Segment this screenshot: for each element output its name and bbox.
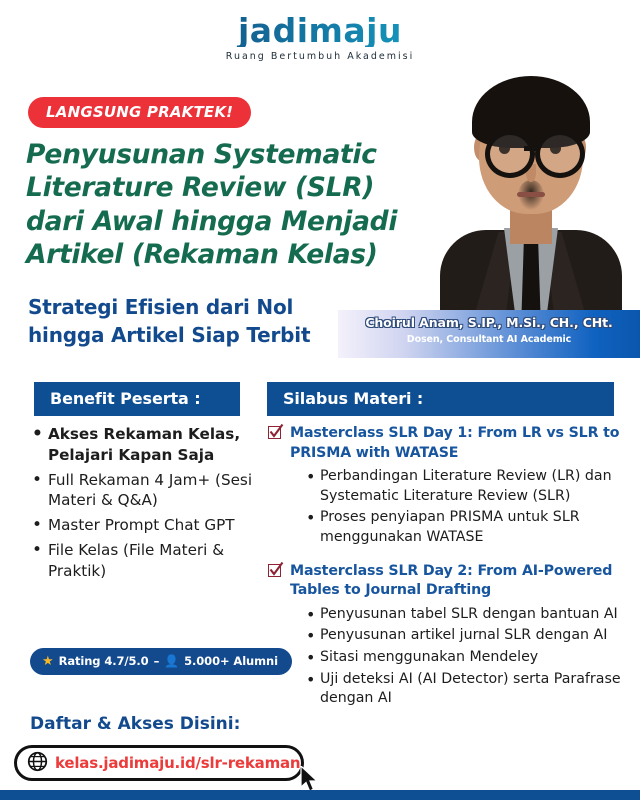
page-subtitle: Strategi Efisien dari Nol hingga Artikel… <box>28 293 358 350</box>
silabus-list: Masterclass SLR Day 1: From LR vs SLR to… <box>268 424 636 723</box>
alumni-count: 5.000+ Alumni <box>184 654 278 668</box>
logo-tagline: Ruang Bertumbuh Akademisi <box>0 51 640 62</box>
silabus-module: Masterclass SLR Day 1: From LR vs SLR to… <box>268 424 636 548</box>
rating-text: Rating 4.7/5.0 <box>59 654 149 668</box>
status-badge: LANGSUNG PRAKTEK! <box>28 97 251 128</box>
silabus-module-title: Masterclass SLR Day 1: From LR vs SLR to… <box>268 424 636 463</box>
benefit-list: Akses Rekaman Kelas, Pelajari Kapan Saja… <box>30 424 258 586</box>
list-item: Proses penyiapan PRISMA untuk SLR menggu… <box>306 508 636 547</box>
eyeglasses-bridge <box>524 146 536 151</box>
silabus-module: Masterclass SLR Day 2: From AI-Powered T… <box>268 562 636 709</box>
star-icon: ★ <box>42 655 54 668</box>
speaker-role: Dosen, Consultant AI Academic <box>338 334 640 345</box>
url-button[interactable]: kelas.jadimaju.id/slr-rekaman <box>14 745 304 781</box>
rating-separator: – <box>154 654 160 668</box>
list-item: Akses Rekaman Kelas, Pelajari Kapan Saja <box>30 424 258 466</box>
list-item: Penyusunan artikel jurnal SLR dengan AI <box>306 626 636 646</box>
silabus-module-title-text: Masterclass SLR Day 1: From LR vs SLR to… <box>290 425 619 461</box>
silabus-module-title: Masterclass SLR Day 2: From AI-Powered T… <box>268 562 636 601</box>
speaker-nameplate: Choirul Anam, S.IP., M.Si., CH., CHt. Do… <box>338 310 640 358</box>
footer-bar <box>0 790 640 800</box>
list-item: Penyusunan tabel SLR dengan bantuan AI <box>306 605 636 625</box>
speaker-portrait <box>432 72 628 327</box>
benefit-section-header: Benefit Peserta : <box>34 382 240 416</box>
speaker-name: Choirul Anam, S.IP., M.Si., CH., CHt. <box>338 315 640 330</box>
silabus-points: Perbandingan Literature Review (LR) dan … <box>268 467 636 547</box>
list-item: Master Prompt Chat GPT <box>30 515 258 536</box>
checkbox-checked-icon <box>268 426 281 439</box>
eyeglasses-icon <box>485 130 535 178</box>
rating-badge: ★ Rating 4.7/5.0 – 👤 5.000+ Alumni <box>30 648 292 675</box>
cta-label: Daftar & Akses Disini: <box>30 714 240 734</box>
list-item: Uji deteksi AI (AI Detector) serta Paraf… <box>306 670 636 709</box>
logo-wordmark: jadimaju <box>0 14 640 47</box>
cursor-arrow-icon <box>300 766 320 793</box>
silabus-module-title-text: Masterclass SLR Day 2: From AI-Powered T… <box>290 563 612 599</box>
eyeglasses-icon <box>535 130 585 178</box>
url-text: kelas.jadimaju.id/slr-rekaman <box>55 754 300 772</box>
checkbox-checked-icon <box>268 564 281 577</box>
brand-logo: jadimaju Ruang Bertumbuh Akademisi <box>0 14 640 62</box>
portrait-mouth <box>517 192 545 197</box>
list-item: Sitasi menggunakan Mendeley <box>306 648 636 668</box>
list-item: Perbandingan Literature Review (LR) dan … <box>306 467 636 506</box>
list-item: Full Rekaman 4 Jam+ (Sesi Materi & Q&A) <box>30 470 258 512</box>
list-item: File Kelas (File Materi & Praktik) <box>30 540 258 582</box>
silabus-section-header: Silabus Materi : <box>267 382 614 416</box>
page-title: Penyusunan Systematic Literature Review … <box>26 138 426 272</box>
globe-icon <box>27 751 48 776</box>
silabus-points: Penyusunan tabel SLR dengan bantuan AI P… <box>268 605 636 709</box>
user-icon: 👤 <box>164 655 179 667</box>
